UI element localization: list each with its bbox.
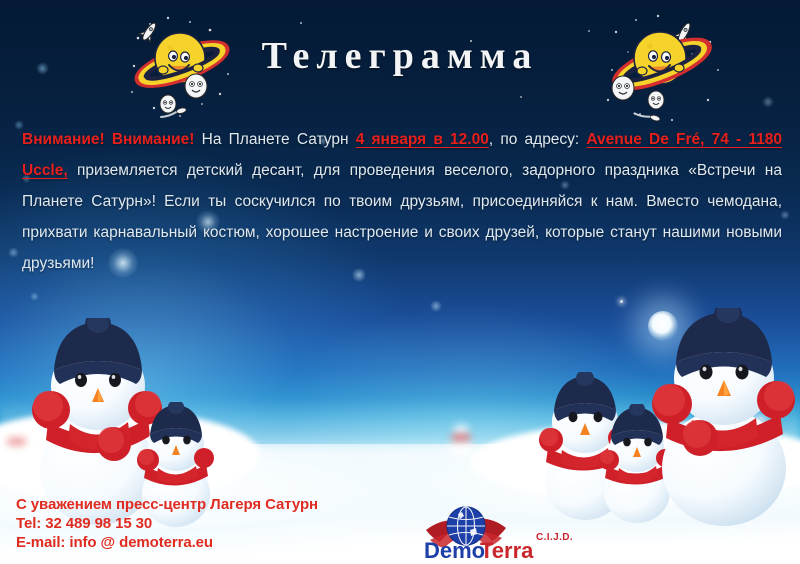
event-datetime: 4 января в 12.00 (356, 131, 489, 148)
footer-line-signature: С уважением пресс-центр Лагеря Сатурн (16, 495, 318, 514)
footer-contact: С уважением пресс-центр Лагеря Сатурн Te… (16, 495, 318, 552)
demoterra-logo: C.I.J.D. Demo Terra (424, 500, 589, 562)
logo-tagline: C.I.J.D. (536, 532, 573, 543)
attention-text: Внимание! Внимание! (22, 131, 194, 148)
poster-canvas: Телеграмма Внимание! Внимание! На Планет… (0, 0, 800, 564)
page-title: Телеграмма (0, 34, 800, 78)
body-segment: приземляется детский десант, для проведе… (22, 162, 782, 272)
logo-name-terra: Terra (480, 538, 534, 562)
logo-name-demo: Demo (424, 538, 485, 562)
footer-line-phone: Tel: 32 489 98 15 30 (16, 514, 318, 533)
background-snowman-blur (446, 420, 476, 458)
snowman-large-right (638, 308, 800, 530)
body-segment: На Планете Сатурн (194, 131, 355, 148)
footer-line-email: E-mail: info @ demoterra.eu (16, 533, 318, 552)
announcement-text: Внимание! Внимание! На Планете Сатурн 4 … (22, 124, 782, 279)
body-segment: , по адресу: (489, 131, 587, 148)
